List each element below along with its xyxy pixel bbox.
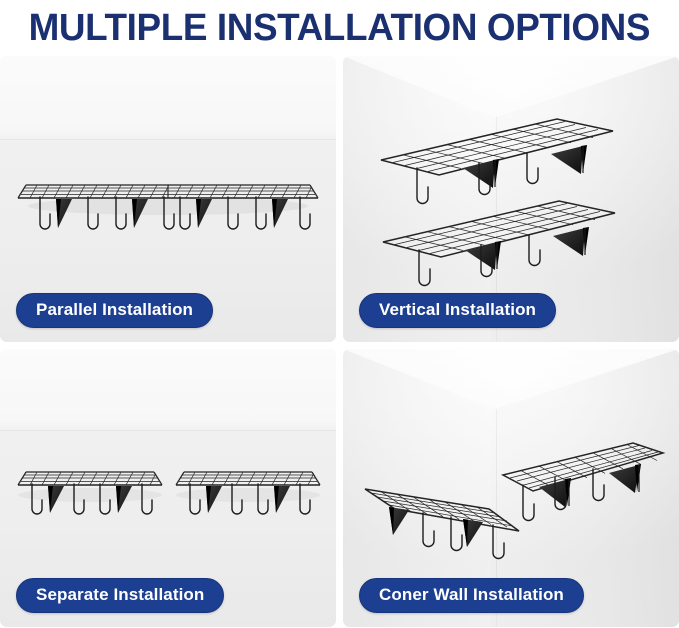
panel-corner-wall-installation[interactable]: Coner Wall Installation: [343, 349, 679, 627]
panel-separate-installation[interactable]: Separate Installation: [0, 349, 336, 627]
badge-corner-wall-installation[interactable]: Coner Wall Installation: [359, 578, 584, 613]
shelf-right-wall: [503, 443, 663, 521]
badge-vertical-installation[interactable]: Vertical Installation: [359, 293, 556, 328]
shelf-left-wall: [365, 489, 519, 559]
panel-vertical-installation[interactable]: Vertical Installation: [343, 56, 679, 342]
badge-parallel-installation[interactable]: Parallel Installation: [16, 293, 213, 328]
installation-options-grid: Parallel Installation: [0, 56, 679, 627]
shelf-upper: [381, 119, 613, 204]
header-bar: MULTIPLE INSTALLATION OPTIONS: [0, 0, 679, 56]
page-title: MULTIPLE INSTALLATION OPTIONS: [29, 7, 650, 50]
panel-parallel-installation[interactable]: Parallel Installation: [0, 56, 336, 342]
shelf-lower: [383, 201, 615, 286]
badge-separate-installation[interactable]: Separate Installation: [16, 578, 224, 613]
